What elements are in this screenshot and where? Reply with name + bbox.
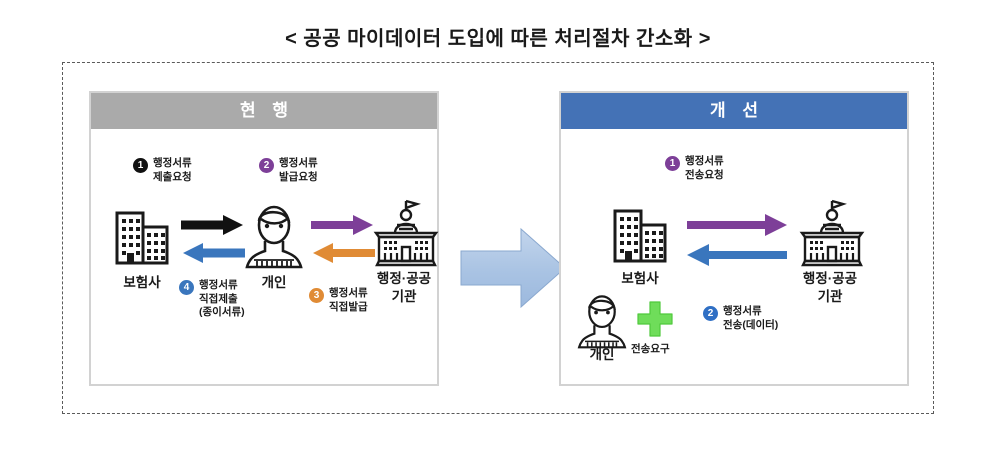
- step-current-2: 2 행정서류 발급요청: [259, 157, 318, 184]
- page-title: < 공공 마이데이터 도입에 따른 처리절차 간소화 >: [0, 22, 996, 51]
- label-institution-line1: 행정·공공: [359, 271, 449, 288]
- panel-current-header: 현 행: [91, 93, 437, 129]
- institution-to-individual-arrow: [313, 243, 375, 263]
- step-number-badge: 1: [133, 158, 148, 173]
- panel-improved-header: 개 선: [561, 93, 907, 129]
- step-label: 행정서류 직접발급: [329, 287, 368, 314]
- step-label: 행정서류 전송요청: [685, 155, 724, 182]
- label-insurer: 보험사: [107, 275, 177, 292]
- office-building-icon: [111, 205, 173, 272]
- person-icon: [575, 293, 629, 354]
- label-transmission-request: 전송요구: [631, 341, 670, 356]
- step-current-1: 1 행정서류 제출요청: [133, 157, 192, 184]
- arrow-group-individual-institution: [309, 211, 377, 265]
- panel-current: 현 행 1 행정서류 제출요청 2 행정서류 발급요청: [89, 91, 439, 386]
- diagram-frame: 현 행 1 행정서류 제출요청 2 행정서류 발급요청: [62, 62, 934, 414]
- arrow-group-improved: [685, 211, 789, 267]
- step-number-badge: 2: [703, 306, 718, 321]
- step-current-3: 3 행정서류 직접발급: [309, 287, 368, 314]
- label-individual: 개인: [575, 347, 629, 364]
- panel-improved-body: 1 행정서류 전송요청: [561, 129, 907, 384]
- panel-improved: 개 선 1 행정서류 전송요청: [559, 91, 909, 386]
- panel-current-body: 1 행정서류 제출요청 2 행정서류 발급요청: [91, 129, 437, 384]
- green-plus-icon: [635, 299, 675, 344]
- step-label: 행정서류 전송(데이터): [723, 305, 778, 332]
- step-current-4: 4 행정서류 직접제출 (종이서류): [179, 279, 245, 320]
- insurer-to-institution-arrow: [687, 214, 787, 236]
- step-improved-2: 2 행정서류 전송(데이터): [703, 305, 778, 332]
- step-number-badge: 2: [259, 158, 274, 173]
- individual-to-institution-arrow: [311, 215, 373, 235]
- government-building-icon: [799, 199, 865, 272]
- step-number-badge: 1: [665, 156, 680, 171]
- step-label: 행정서류 제출요청: [153, 157, 192, 184]
- step-number-badge: 3: [309, 288, 324, 303]
- office-building-icon: [609, 203, 671, 270]
- step-label: 행정서류 직접제출 (종이서류): [199, 279, 245, 320]
- step-improved-1: 1 행정서류 전송요청: [665, 155, 724, 182]
- label-institution-line2: 기관: [785, 289, 875, 306]
- label-institution-line1: 행정·공공: [785, 271, 875, 288]
- label-individual: 개인: [243, 275, 305, 292]
- label-insurer: 보험사: [605, 271, 675, 288]
- institution-to-insurer-arrow: [687, 244, 787, 266]
- step-label: 행정서류 발급요청: [279, 157, 318, 184]
- block-arrow-right-icon: [459, 225, 567, 311]
- step-number-badge: 4: [179, 280, 194, 295]
- person-icon: [243, 203, 305, 274]
- insurer-to-individual-arrow: [181, 215, 243, 235]
- arrow-group-insurer-individual: [179, 211, 247, 265]
- government-building-icon: [373, 199, 439, 272]
- label-institution-line2: 기관: [359, 289, 449, 306]
- individual-to-insurer-arrow: [183, 243, 245, 263]
